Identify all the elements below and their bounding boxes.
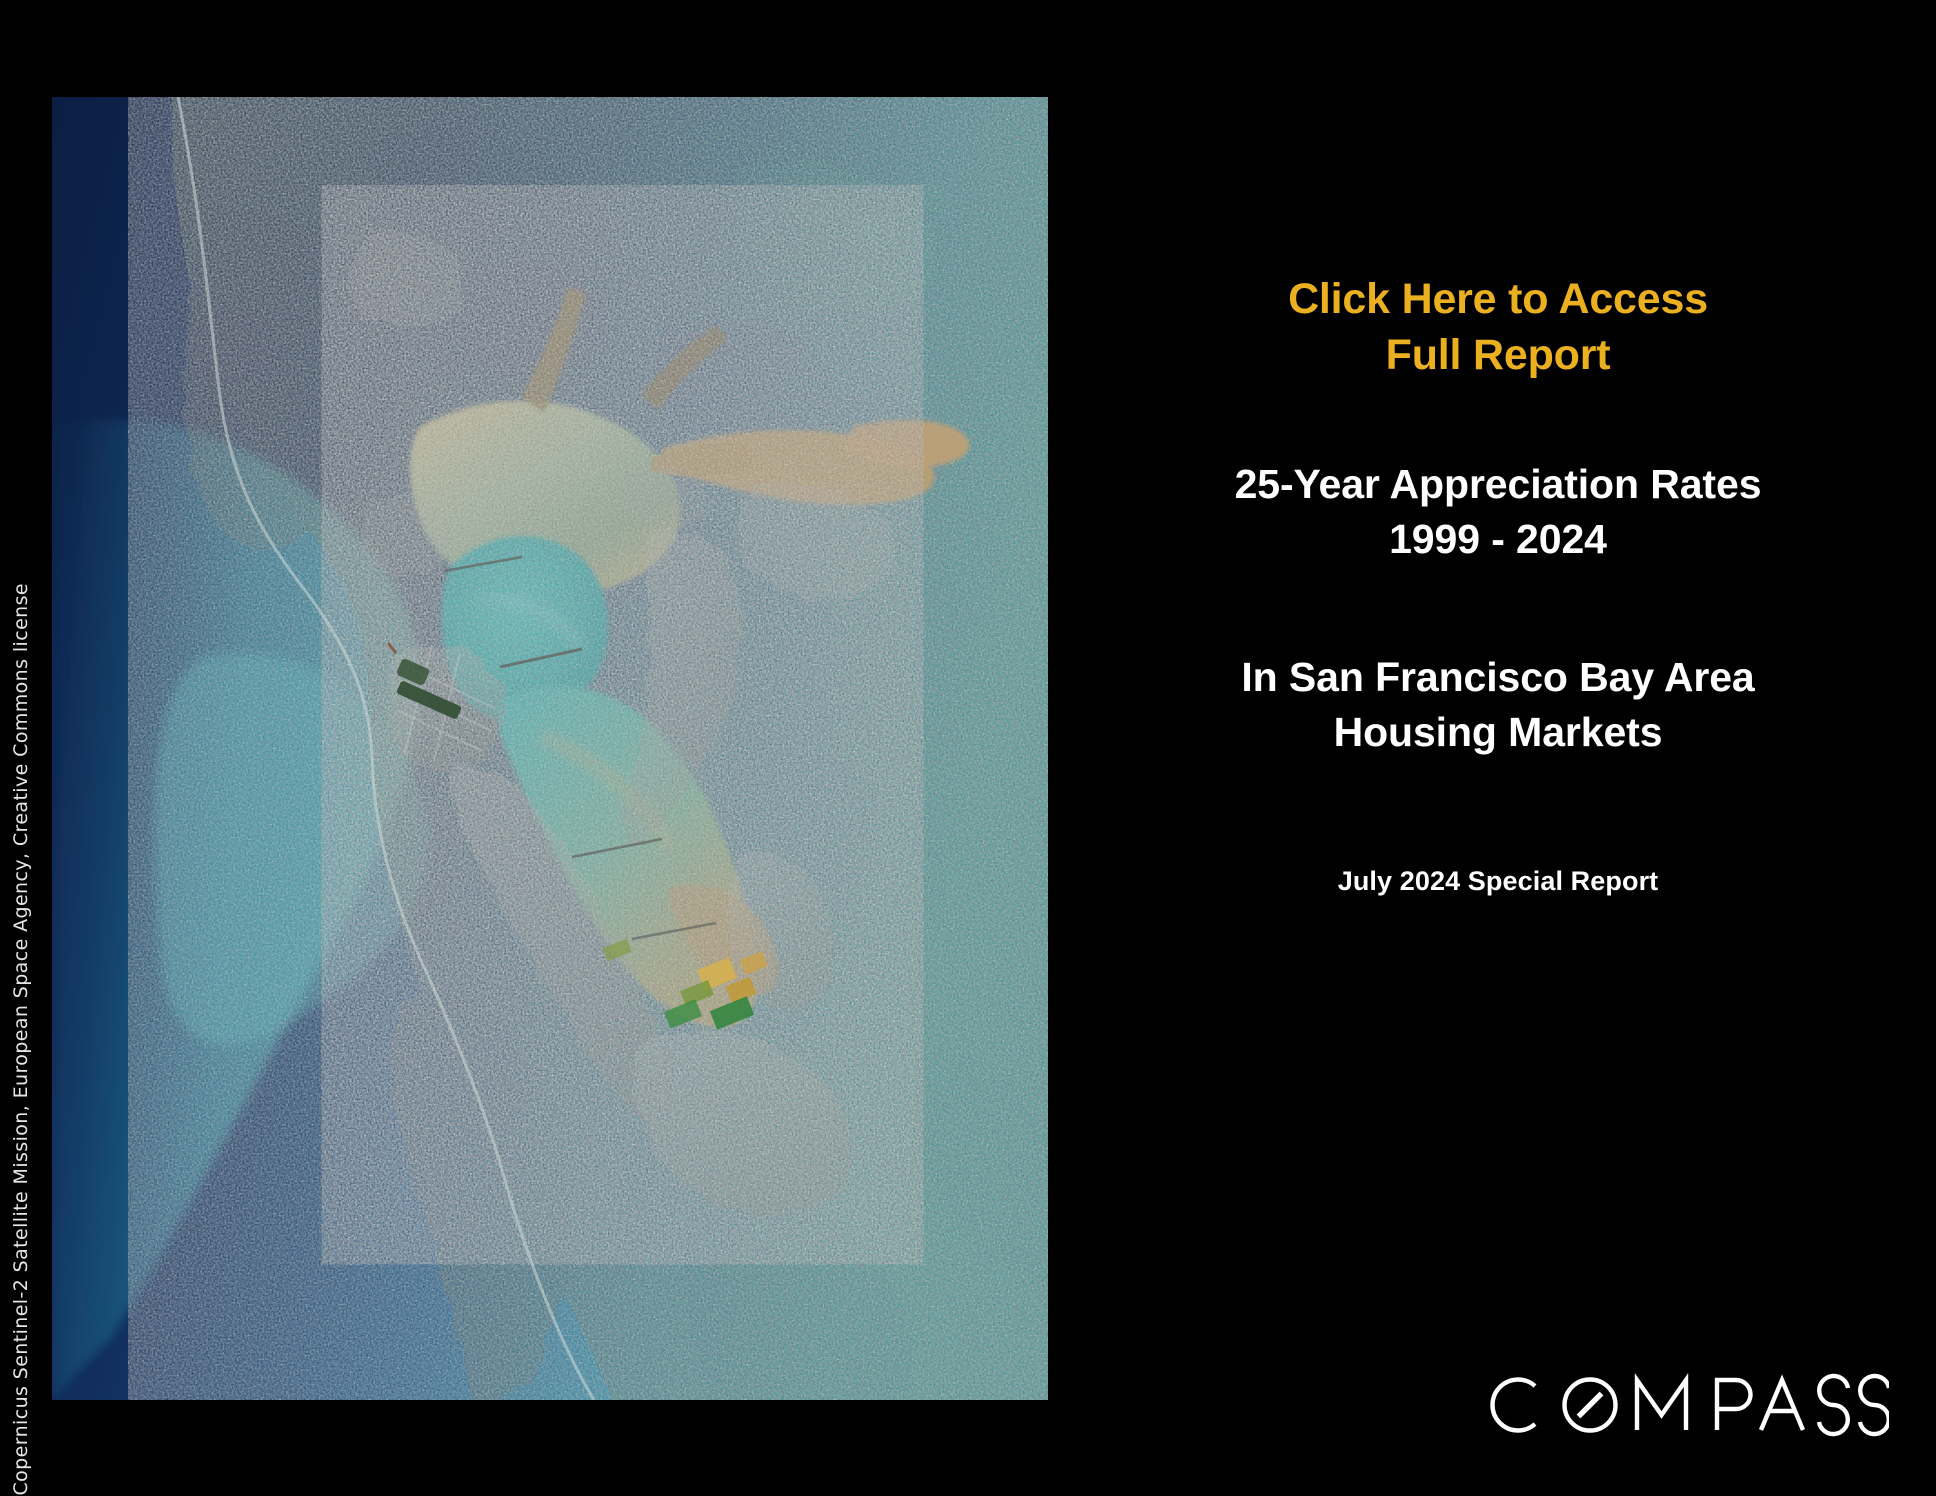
page-title: 25-Year Appreciation Rates 1999 - 2024 <box>1060 457 1936 568</box>
compass-logo <box>1489 1369 1889 1441</box>
photo-credit-text: Copernicus Sentinel-2 Satellite Mission,… <box>12 523 31 1496</box>
subhead-line-2: Housing Markets <box>1060 705 1936 760</box>
page-subtitle: In San Francisco Bay Area Housing Market… <box>1060 650 1936 761</box>
cta-line-1: Click Here to Access <box>1060 272 1936 328</box>
subhead-line-1: In San Francisco Bay Area <box>1060 650 1936 705</box>
cta-line-2: Full Report <box>1060 328 1936 384</box>
slide-root: Copernicus Sentinel-2 Satellite Mission,… <box>0 0 1936 1496</box>
report-date: July 2024 Special Report <box>1060 866 1936 897</box>
photo-credit: Copernicus Sentinel-2 Satellite Mission,… <box>0 0 43 1496</box>
full-report-link[interactable]: Click Here to Access Full Report <box>1060 272 1936 384</box>
headline-line-2: 1999 - 2024 <box>1060 512 1936 567</box>
text-column: Click Here to Access Full Report 25-Year… <box>1060 0 1936 1496</box>
satellite-image <box>52 97 1048 1400</box>
headline-line-1: 25-Year Appreciation Rates <box>1060 457 1936 512</box>
